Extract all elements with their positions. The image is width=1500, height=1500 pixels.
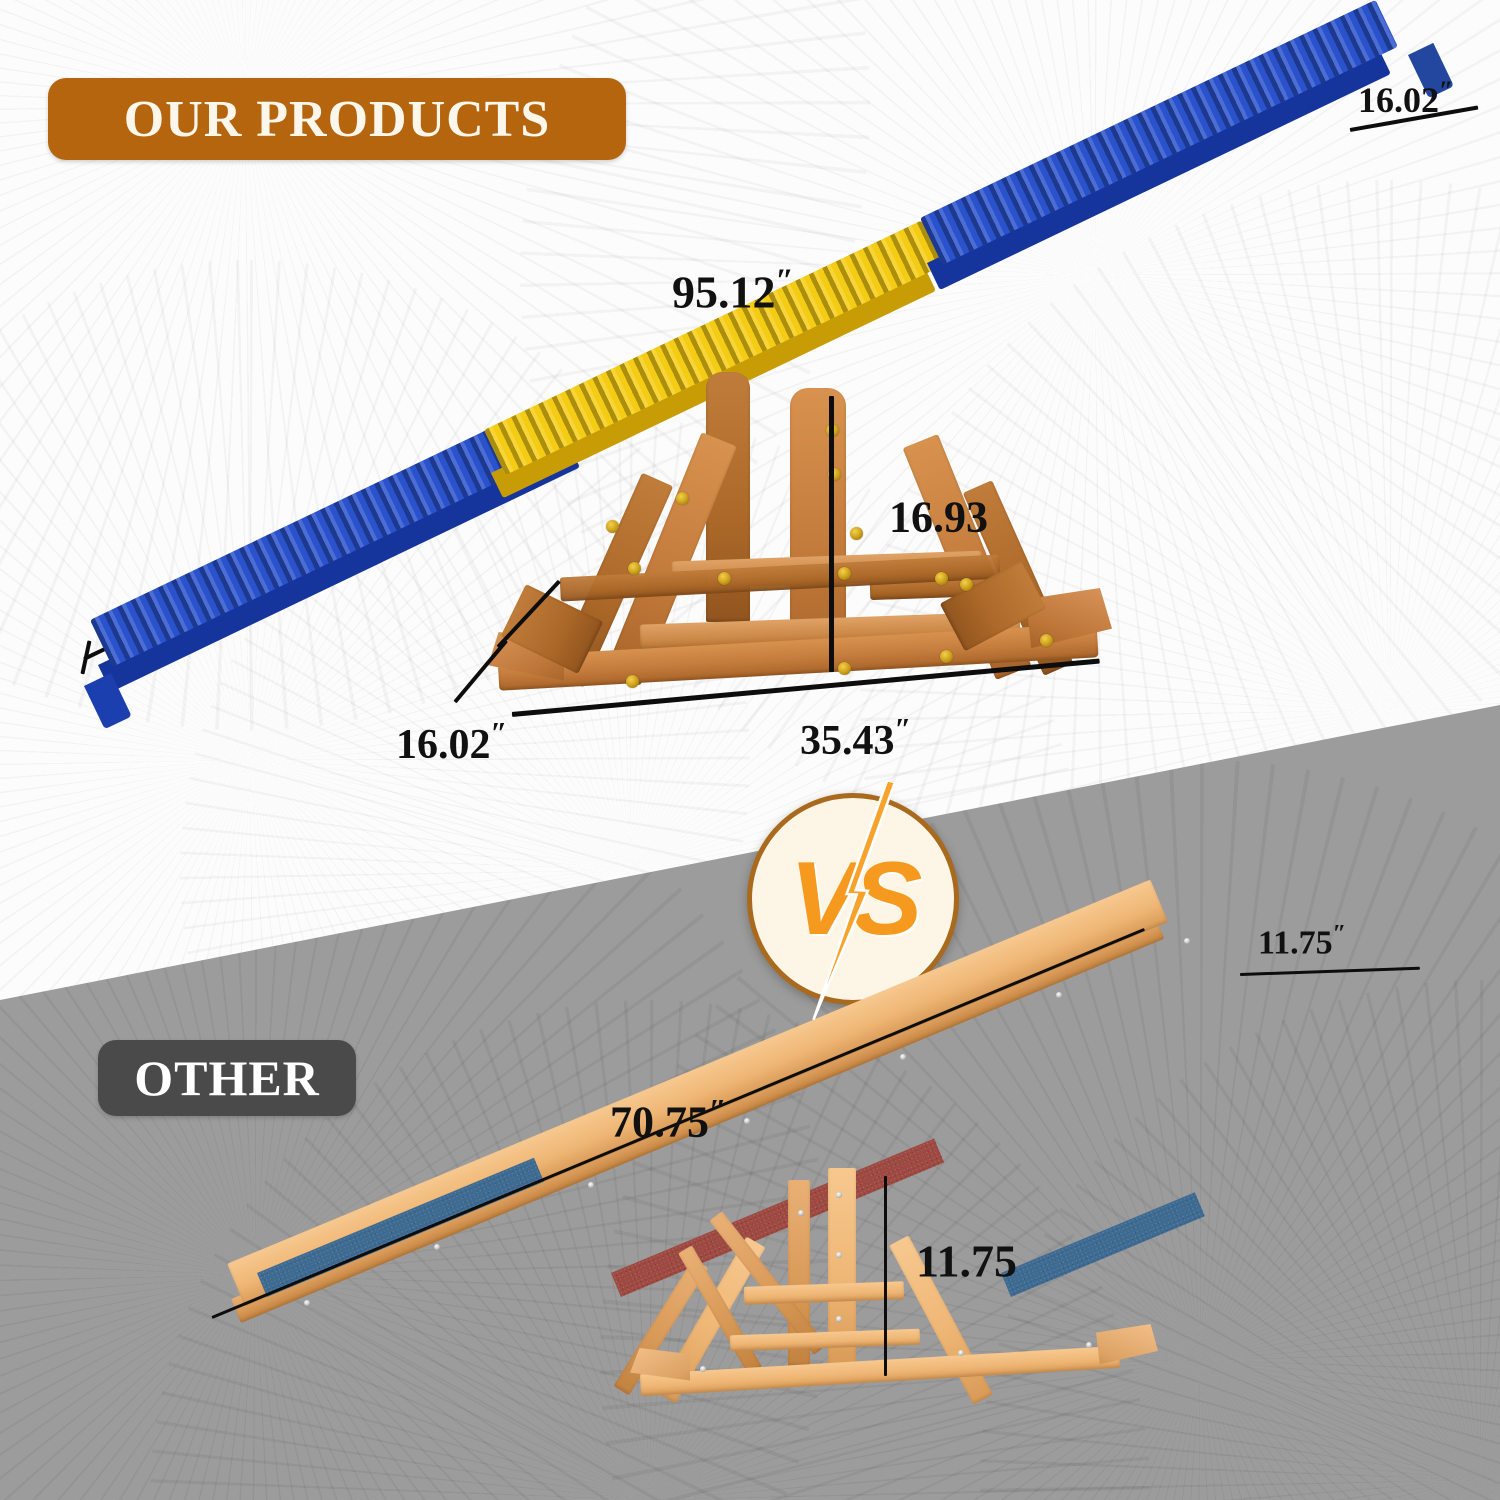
- nail: [836, 1316, 842, 1322]
- dimension-unit-base-width: ″: [895, 712, 913, 746]
- screw: [850, 527, 863, 540]
- other-dimension-line-width-top: [1240, 967, 1420, 976]
- other-dimension-value-length: 70.75: [610, 1098, 709, 1147]
- dimension-label-base-depth: 16.02″: [396, 718, 508, 766]
- dimension-unit-length: ″: [776, 262, 795, 299]
- our-product-illustration: [0, 0, 1500, 800]
- other-dimension-line-height: [884, 1176, 887, 1376]
- screw: [628, 562, 641, 575]
- nail: [700, 1366, 706, 1372]
- screw: [960, 578, 973, 591]
- other-product-illustration: [0, 880, 1500, 1500]
- plank-right-antislip-ribs: [920, 0, 1398, 265]
- nail: [1056, 992, 1062, 998]
- dimension-line-height: [829, 396, 834, 672]
- nail: [304, 1300, 310, 1306]
- other-dimension-label-height: 11.75: [916, 1233, 1017, 1284]
- dimension-label-base-width: 35.43″: [800, 714, 912, 762]
- nail: [798, 1210, 804, 1216]
- other-dimension-value-height: 11.75: [916, 1235, 1017, 1286]
- dimension-label-length: 95.12″: [672, 264, 795, 315]
- screw: [838, 662, 851, 675]
- screw: [606, 520, 619, 533]
- other-dimension-unit-width-top: ″: [1333, 920, 1348, 947]
- dimension-unit-width-top: ″: [1439, 76, 1454, 105]
- nail: [588, 1182, 594, 1188]
- dimension-label-width-top: 16.02″: [1358, 78, 1454, 118]
- screw: [935, 572, 948, 585]
- dimension-value-length: 95.12: [672, 266, 776, 317]
- screw: [626, 675, 639, 688]
- nail: [744, 1118, 750, 1124]
- other-plank-mat-red: [611, 1138, 944, 1297]
- nail: [836, 1192, 842, 1198]
- plank-right-blue-top: [920, 0, 1398, 265]
- dimension-value-height: 16.93: [889, 493, 988, 542]
- nail: [958, 1350, 964, 1356]
- nail: [1086, 1342, 1092, 1348]
- product-comparison-image: OUR PRODUCTS: [0, 0, 1500, 1500]
- screw: [940, 650, 953, 663]
- vs-label: VS: [790, 840, 917, 959]
- other-dimension-value-width-top: 11.75: [1258, 924, 1333, 961]
- dimension-value-base-depth: 16.02: [396, 722, 491, 768]
- screw: [838, 567, 851, 580]
- dimension-value-width-top: 16.02: [1358, 80, 1439, 120]
- dimension-unit-base-depth: ″: [491, 716, 509, 750]
- dimension-label-height: 16.93: [889, 490, 988, 540]
- plank-right-blue-edge: [927, 47, 1391, 290]
- other-plank-mat-blue-upper: [1001, 1192, 1205, 1297]
- screw: [718, 572, 731, 585]
- dimension-value-base-width: 35.43: [800, 718, 895, 764]
- screw: [676, 492, 689, 505]
- nail: [1184, 938, 1190, 944]
- other-dimension-label-width-top: 11.75″: [1258, 922, 1347, 960]
- other-plank-mat-blue-lower: [257, 1158, 544, 1297]
- nail: [434, 1244, 440, 1250]
- screw: [1040, 634, 1053, 647]
- other-dimension-unit-length: ″: [709, 1093, 728, 1128]
- nail: [900, 1054, 906, 1060]
- nail: [836, 1252, 842, 1258]
- other-dimension-label-length: 70.75″: [610, 1095, 728, 1145]
